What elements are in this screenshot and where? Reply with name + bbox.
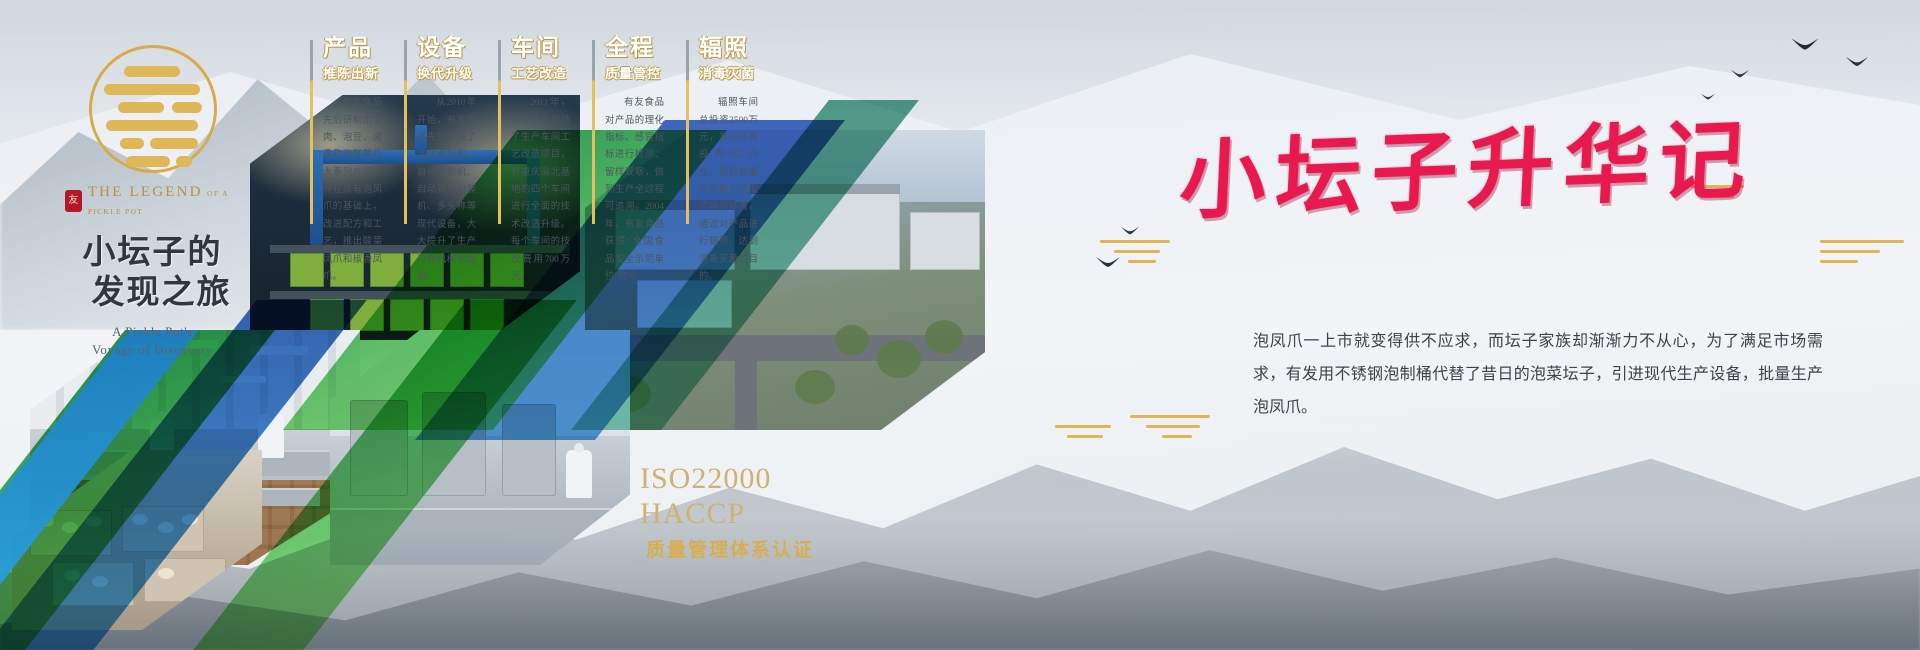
brand-logo-block: 友 THE LEGEND OF A PICKLE POT 小坛子的 发现之旅 A… (65, 45, 240, 360)
bird-icon (1730, 68, 1750, 79)
column-subheading: 换代升级 (417, 63, 476, 82)
column-body: 从2010年开始，有友食品先后引进了连续煮制机、自动切制机、自动真空包装机、多头… (417, 95, 476, 286)
brand-english-title: A Pickle Pot's Voyage of Discovery (65, 323, 240, 361)
column-heading: 设备 (417, 36, 476, 60)
banner-canvas: 友 THE LEGEND OF A PICKLE POT 小坛子的 发现之旅 A… (0, 0, 1920, 650)
brand-chinese-title: 小坛子的 发现之旅 (65, 233, 240, 314)
column-rule (498, 40, 501, 224)
bird-icon (1845, 55, 1869, 68)
brand-en-line1: A Pickle Pot's (65, 323, 240, 342)
info-column-equipment: 设备 换代升级 从2010年开始，有友食品先后引进了连续煮制机、自动切制机、自动… (404, 36, 476, 286)
seal-icon: 友 (65, 190, 82, 212)
column-heading: 全程 (605, 36, 664, 60)
column-heading: 车间 (511, 36, 570, 60)
column-subheading: 推陈出新 (323, 63, 382, 82)
column-rule (310, 40, 313, 224)
column-body: 有友食品对产品的理化指标、感官指标进行检测、留样观察，做到生产全过程可追溯。20… (605, 95, 664, 286)
brand-cn-line1: 小坛子的 (65, 233, 240, 273)
legend-title: THE LEGEND (88, 184, 203, 200)
column-heading: 辐照 (699, 36, 758, 60)
gold-cloud-lower (1130, 415, 1210, 445)
column-subheading: 工艺改造 (511, 63, 570, 82)
gold-cloud-right (1820, 240, 1904, 270)
bird-icon (1790, 36, 1820, 52)
gold-cloud-lower2 (1055, 425, 1111, 445)
bird-icon (1120, 225, 1140, 236)
column-rule (592, 40, 595, 224)
cert-haccp-line: HACCP (640, 497, 814, 532)
cert-chinese-line: 质量管理体系认证 (646, 535, 814, 562)
hero-paragraph: 泡凤爪一上市就变得供不应求，而坛子家族却渐渐力不从心，为了满足市场需求，有发用不… (1253, 326, 1823, 424)
info-column-quality: 全程 质量管控 有友食品对产品的理化指标、感官指标进行检测、留样观察，做到生产全… (592, 36, 664, 286)
column-subheading: 消毒灭菌 (699, 63, 758, 82)
bird-icon (1700, 92, 1716, 101)
column-rule (686, 40, 689, 224)
info-column-workshop: 车间 工艺改造 2011年，有友食品启动了生产车间工艺改造项目，对重庆渝北基地的… (498, 36, 570, 286)
hero-title: 小坛子升华记 (1177, 89, 1759, 236)
column-rule (404, 40, 407, 224)
column-heading: 产品 (323, 36, 382, 60)
column-body: 2011年，有友食品启动了生产车间工艺改造项目，对重庆渝北基地的四个车间进行全面… (511, 95, 570, 286)
column-subheading: 质量管控 (605, 63, 664, 82)
column-body: 辐照车间总投资3500万元，其中环保投资550万元，是目前重庆市最大活度的辐照装… (699, 95, 758, 286)
pickle-pot-icon (89, 45, 217, 173)
brand-cn-line2: 发现之旅 (83, 273, 240, 313)
column-body: 有友食品先后研制出泡肉、泡豆、卤香及海鲜等几大系列产品，并在原有泡凤爪的基础上，… (323, 95, 382, 286)
cert-iso-line: ISO22000 (640, 462, 814, 497)
info-column-irradiation: 辐照 消毒灭菌 辐照车间总投资3500万元，其中环保投资550万元，是目前重庆市… (686, 36, 758, 286)
info-columns: 产品 推陈出新 有友食品先后研制出泡肉、泡豆、卤香及海鲜等几大系列产品，并在原有… (310, 36, 758, 286)
certification-block: ISO22000 HACCP 质量管理体系认证 (640, 462, 814, 562)
legend-row: 友 THE LEGEND OF A PICKLE POT (65, 183, 240, 219)
info-column-product: 产品 推陈出新 有友食品先后研制出泡肉、泡豆、卤香及海鲜等几大系列产品，并在原有… (310, 36, 382, 286)
brand-en-line2: Voyage of Discovery (65, 341, 240, 360)
bird-icon (1095, 255, 1121, 269)
